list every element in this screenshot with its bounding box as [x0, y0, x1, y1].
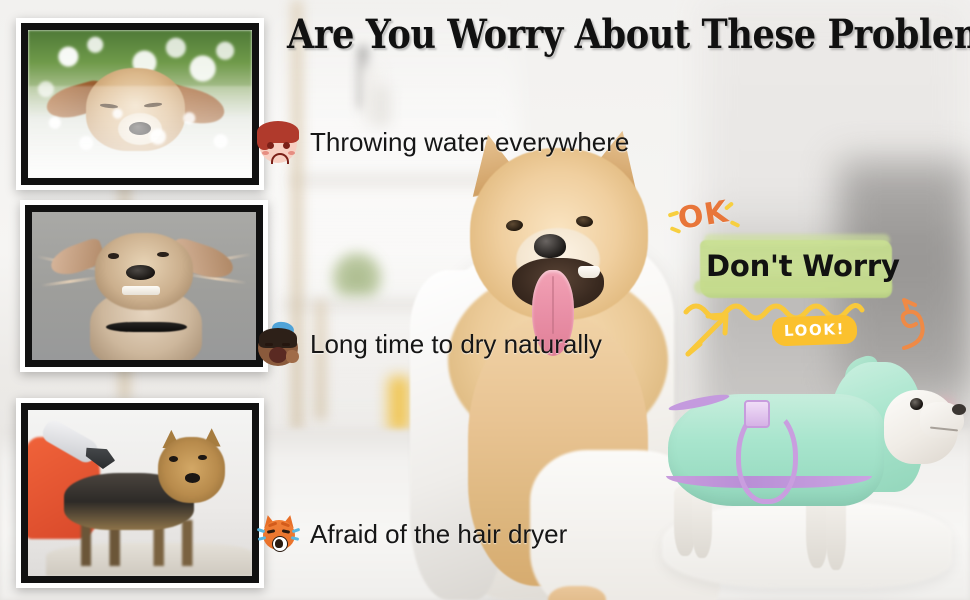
emoji-eye-left [265, 343, 273, 346]
problem-row: Throwing water everywhere [256, 120, 629, 164]
promo-poster: OK Don't Worry LOOK! [0, 0, 970, 600]
up-right-arrow-icon [678, 300, 748, 362]
problem-row: Long time to dry naturally [256, 322, 602, 366]
photo2-dog-teeth [122, 286, 160, 295]
photo-content [28, 410, 252, 576]
photo-frame-inner [25, 205, 263, 367]
emoji-eye-right [283, 142, 290, 149]
sad-face-emoji [256, 120, 300, 164]
problem-label: Long time to dry naturally [310, 329, 602, 360]
emoji-eye-right [282, 343, 290, 346]
photo2-dog-eye-left [108, 253, 119, 258]
dont-worry-text: Don't Worry [706, 249, 900, 283]
photo2-dog-collar [106, 322, 187, 332]
photo-wet-terrier [20, 200, 268, 372]
photo-content [32, 212, 256, 360]
background-plant [330, 250, 384, 296]
dog-in-green-bathrobe-image [648, 350, 970, 600]
problem-label: Afraid of the hair dryer [310, 519, 567, 550]
photo2-dog-eye-right [157, 252, 168, 257]
emoji-blush-right [288, 151, 295, 155]
bathrobe-buckle [744, 400, 770, 428]
emoji-cat-mouth-inner [275, 539, 283, 548]
dog-nose [534, 234, 566, 258]
orange-curl-arrow-icon [886, 296, 942, 354]
yawning-face-emoji [256, 322, 300, 366]
crying-cat-emoji [256, 512, 300, 556]
emoji-eye-left [267, 142, 274, 149]
page-title: Are You Worry About These Problems? [58, 14, 912, 56]
robe-dog-eye [910, 398, 923, 410]
photo-frame-inner [21, 403, 259, 583]
robe-dog-nose [952, 404, 966, 415]
emoji-blush-left [262, 151, 269, 155]
problem-label: Throwing water everywhere [310, 127, 629, 158]
emoji-yawn-mouth [269, 347, 287, 363]
look-badge: LOOK! [772, 315, 858, 347]
problem-row: Afraid of the hair dryer [256, 512, 567, 556]
dog-paw [548, 586, 606, 600]
emoji-tear-3 [292, 528, 301, 533]
photo3-dog-head [158, 437, 225, 503]
photo1-water-spray [28, 86, 252, 178]
emoji-hand [286, 350, 299, 363]
photo-blow-drying-yorkie [16, 398, 264, 588]
dog-teeth [578, 266, 600, 278]
emoji-frown-mouth [271, 153, 289, 164]
